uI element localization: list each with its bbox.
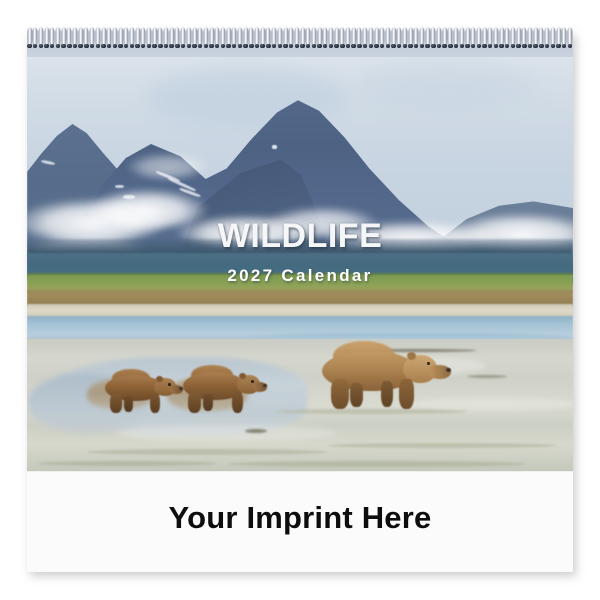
adult-bear-ear xyxy=(407,352,416,360)
adult-bear-front-leg-far xyxy=(381,381,393,407)
cub-eye xyxy=(168,383,171,386)
cub-front-leg xyxy=(150,394,160,413)
mud-streak xyxy=(87,449,327,455)
page-title: Wildlife xyxy=(27,207,573,256)
sky-blue-patch xyxy=(357,61,537,111)
adult-bear-nose xyxy=(446,368,451,372)
calendar-card: Wildlife 2027 Calendar Your Imprint Here xyxy=(27,31,573,571)
adult-bear-hind-leg-far xyxy=(350,383,363,407)
adult-bear-front-leg xyxy=(399,379,414,409)
cub-eye xyxy=(251,380,254,383)
page-top-margin xyxy=(27,31,573,57)
imprint-panel[interactable]: Your Imprint Here xyxy=(27,471,573,572)
cloud xyxy=(127,153,207,179)
wet-sheen xyxy=(117,425,337,441)
cover-title-block: Wildlife 2027 Calendar xyxy=(27,207,573,286)
debris-line xyxy=(467,375,507,378)
debris-line xyxy=(245,429,267,433)
mud-streak xyxy=(37,461,217,466)
adult-bear-hind-leg xyxy=(331,379,349,409)
adult-bear xyxy=(317,339,452,411)
calendar-cover-page: Wildlife 2027 Calendar xyxy=(27,31,573,471)
cub-ear xyxy=(239,373,246,379)
snow-streak xyxy=(115,185,124,188)
imprint-text: Your Imprint Here xyxy=(169,500,432,536)
cub-hind-leg-far xyxy=(124,396,133,412)
mud-streak xyxy=(327,443,557,448)
bear-cub-second xyxy=(179,363,267,415)
product-image-stage: Wildlife 2027 Calendar Your Imprint Here xyxy=(0,0,600,600)
cub-hind-leg xyxy=(188,392,201,413)
cub-nose xyxy=(263,384,267,387)
cub-ear xyxy=(156,376,163,382)
mud-streak xyxy=(227,461,527,467)
snow-patch xyxy=(272,145,277,149)
cub-front-leg xyxy=(232,392,243,413)
bear-cub-first xyxy=(102,367,182,415)
cub-hind-leg-far xyxy=(203,394,213,411)
cub-hind-leg xyxy=(110,394,122,413)
cover-photograph: Wildlife 2027 Calendar xyxy=(27,57,573,471)
cover-subtitle: 2027 Calendar xyxy=(27,266,573,286)
